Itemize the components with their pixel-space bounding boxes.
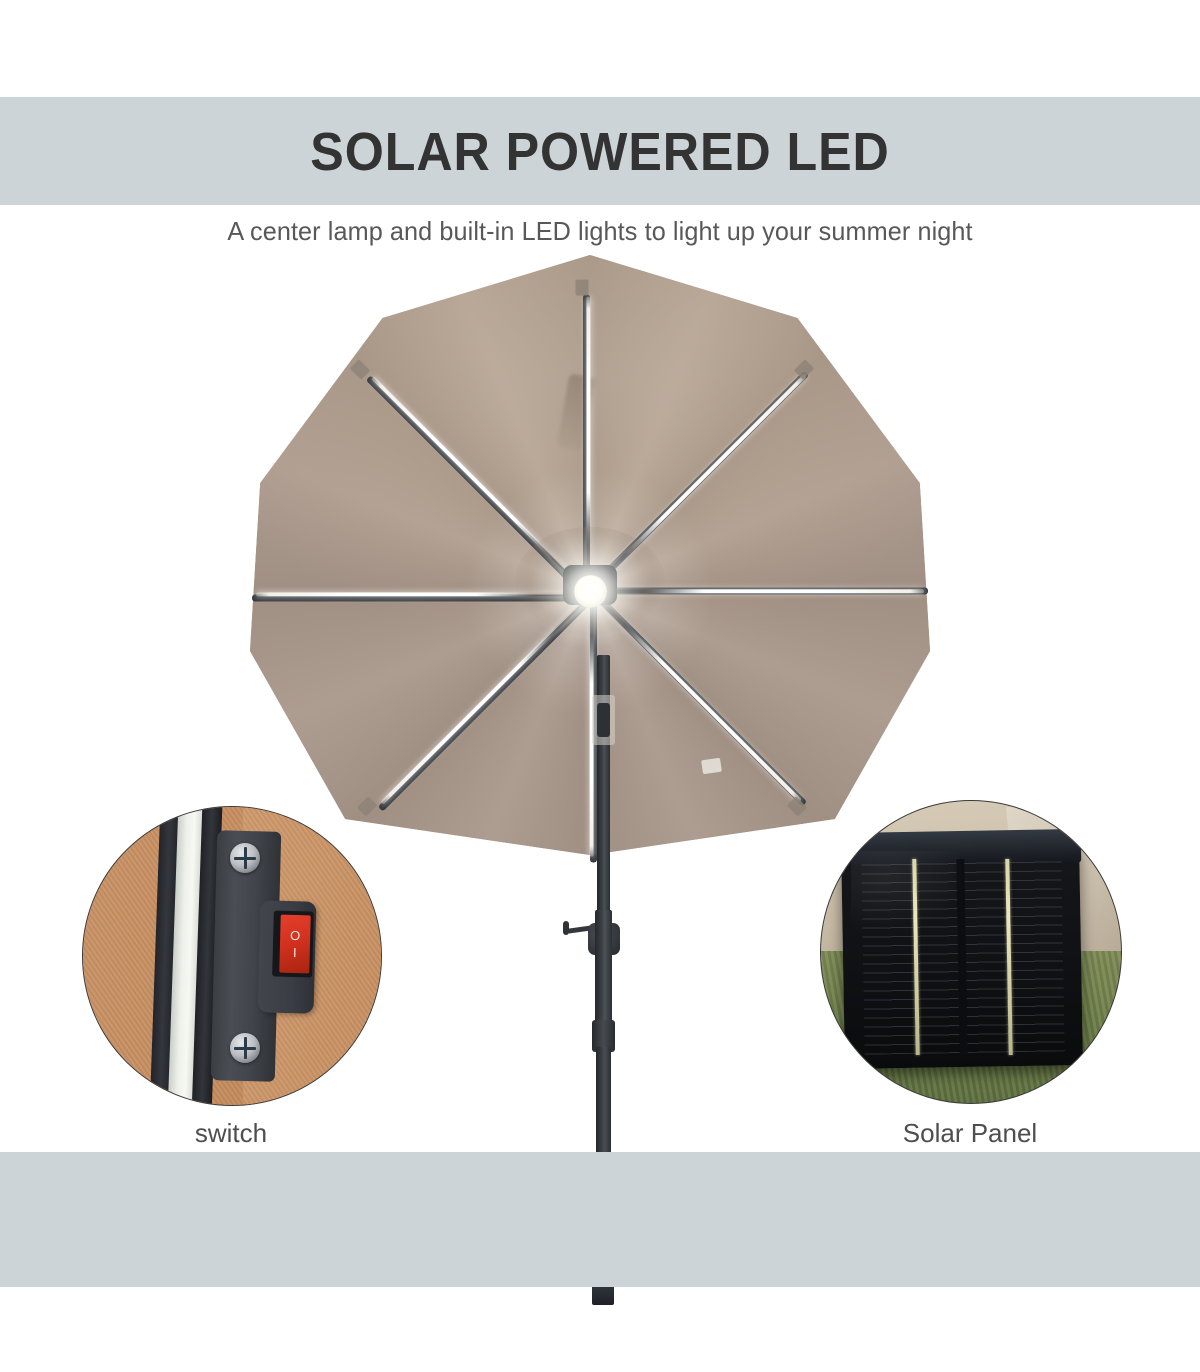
caption-solar-panel: Solar Panel [820, 1118, 1120, 1149]
callout-solar-panel [820, 800, 1122, 1104]
umbrella-pole-mid [595, 910, 612, 1030]
screw-icon [230, 843, 260, 873]
screw-icon [230, 1033, 260, 1063]
rib-tip [576, 279, 589, 295]
center-led-lamp [574, 575, 607, 608]
crank-knob [563, 921, 569, 935]
pole-clip-inner [597, 703, 610, 737]
umbrella-pole-lower [596, 1047, 611, 1162]
callout-switch: O I [82, 806, 382, 1106]
caption-switch: switch [82, 1118, 380, 1149]
rib-tip [350, 359, 371, 380]
switch-off-mark: O [290, 929, 300, 942]
umbrella-canopy [250, 255, 930, 855]
solar-panel-gloss [851, 851, 971, 931]
product-feature-page: SOLAR POWERED LED A center lamp and buil… [0, 0, 1200, 1372]
footer-band [0, 1152, 1200, 1287]
page-subtitle: A center lamp and built-in LED lights to… [18, 216, 1182, 247]
page-title: SOLAR POWERED LED [42, 110, 1158, 194]
switch-on-mark: I [293, 946, 297, 959]
rocker-switch[interactable]: O I [279, 915, 311, 974]
